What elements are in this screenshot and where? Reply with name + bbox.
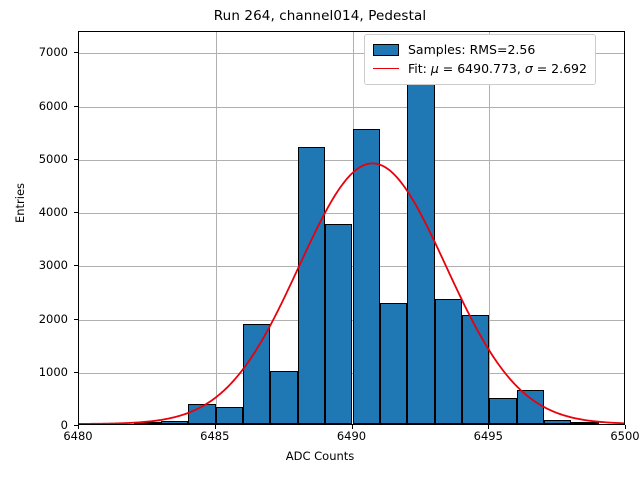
- legend-fit-mu-value: = 6490.773,: [439, 61, 525, 76]
- legend-fit-prefix: Fit:: [408, 61, 431, 76]
- legend-entry-fit: Fit: μ = 6490.773, σ = 2.692: [373, 59, 587, 78]
- x-tick-label: 6500: [595, 429, 640, 443]
- x-axis-label: ADC Counts: [0, 449, 640, 463]
- x-tick-mark: [215, 425, 216, 429]
- chart-title: Run 264, channel014, Pedestal: [0, 8, 640, 24]
- y-tick-label: 6000: [0, 99, 68, 113]
- x-tick-label: 6480: [48, 429, 108, 443]
- y-axis-label: Entries: [13, 23, 27, 383]
- chart-legend[interactable]: Samples: RMS=2.56 Fit: μ = 6490.773, σ =…: [364, 34, 596, 85]
- y-tick-label: 7000: [0, 45, 68, 59]
- figure-canvas: Run 264, channel014, Pedestal Entries AD…: [0, 0, 640, 480]
- legend-fit-sigma-value: = 2.692: [533, 61, 587, 76]
- x-tick-label: 6495: [458, 429, 518, 443]
- legend-label-samples: Samples: RMS=2.56: [408, 42, 535, 57]
- x-tick-mark: [352, 425, 353, 429]
- x-tick-label: 6490: [322, 429, 382, 443]
- y-tick-label: 3000: [0, 258, 68, 272]
- plot-area: [78, 31, 625, 425]
- legend-label-fit: Fit: μ = 6490.773, σ = 2.692: [408, 61, 587, 76]
- x-tick-mark: [625, 425, 626, 429]
- legend-swatch-fit-icon: [373, 68, 399, 69]
- y-tick-label: 5000: [0, 152, 68, 166]
- x-tick-mark: [488, 425, 489, 429]
- legend-swatch-samples-icon: [373, 44, 399, 56]
- y-tick-label: 4000: [0, 205, 68, 219]
- y-tick-label: 1000: [0, 365, 68, 379]
- x-tick-label: 6485: [185, 429, 245, 443]
- legend-entry-samples: Samples: RMS=2.56: [373, 40, 587, 59]
- x-tick-mark: [78, 425, 79, 429]
- y-tick-label: 2000: [0, 312, 68, 326]
- legend-fit-mu-symbol: μ: [431, 61, 439, 76]
- legend-fit-sigma-symbol: σ: [525, 61, 533, 76]
- gaussian-fit-curve: [79, 32, 624, 424]
